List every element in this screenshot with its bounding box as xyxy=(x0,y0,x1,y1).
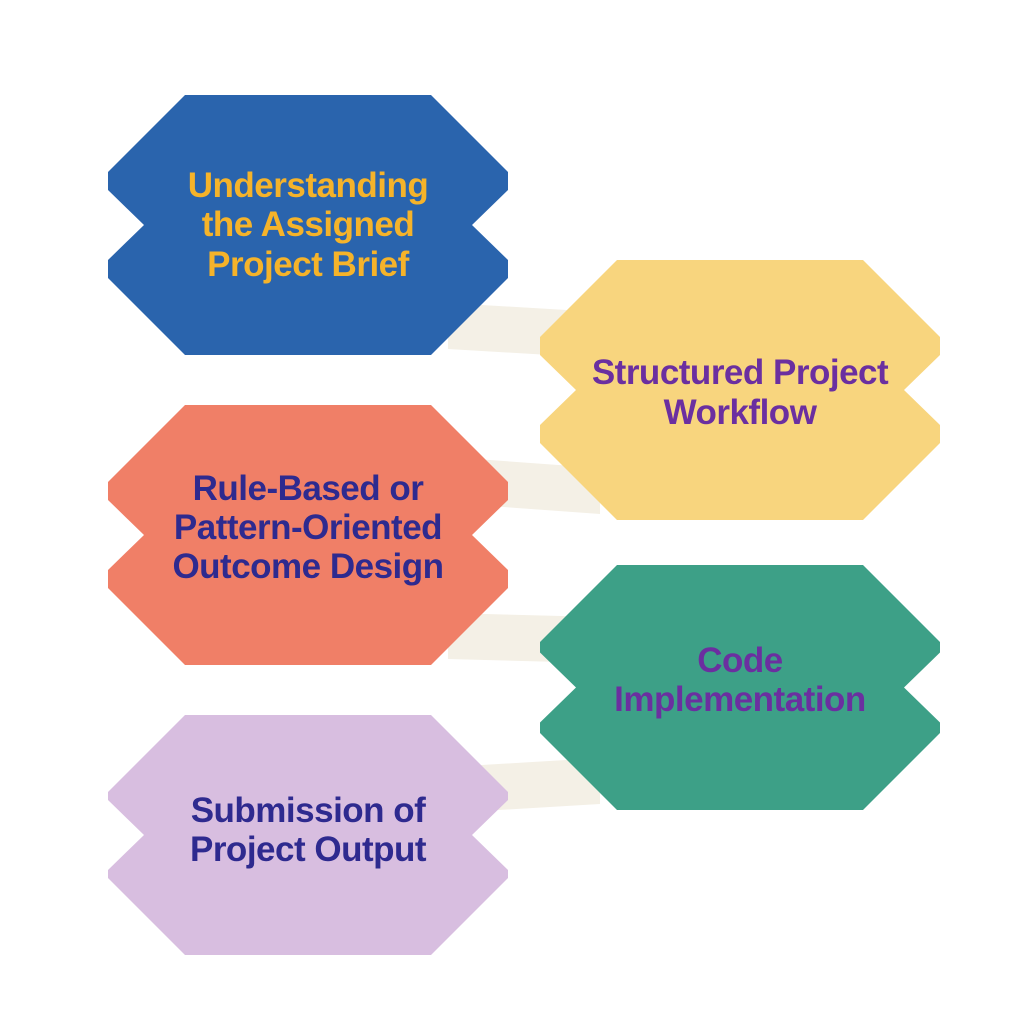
node-shape-rule-based-or-pattern-oriented-outcome-design[interactable] xyxy=(108,405,508,665)
node-shape-understanding-the-assigned-project-brief[interactable] xyxy=(108,95,508,355)
node-shape-structured-project-workflow[interactable] xyxy=(540,260,940,520)
node-shape-code-implementation[interactable] xyxy=(540,565,940,810)
process-flow-diagram xyxy=(0,0,1024,1024)
node-layer xyxy=(108,95,940,955)
diagram-canvas: Understanding the Assigned Project Brief… xyxy=(0,0,1024,1024)
node-shape-submission-of-project-output[interactable] xyxy=(108,715,508,955)
